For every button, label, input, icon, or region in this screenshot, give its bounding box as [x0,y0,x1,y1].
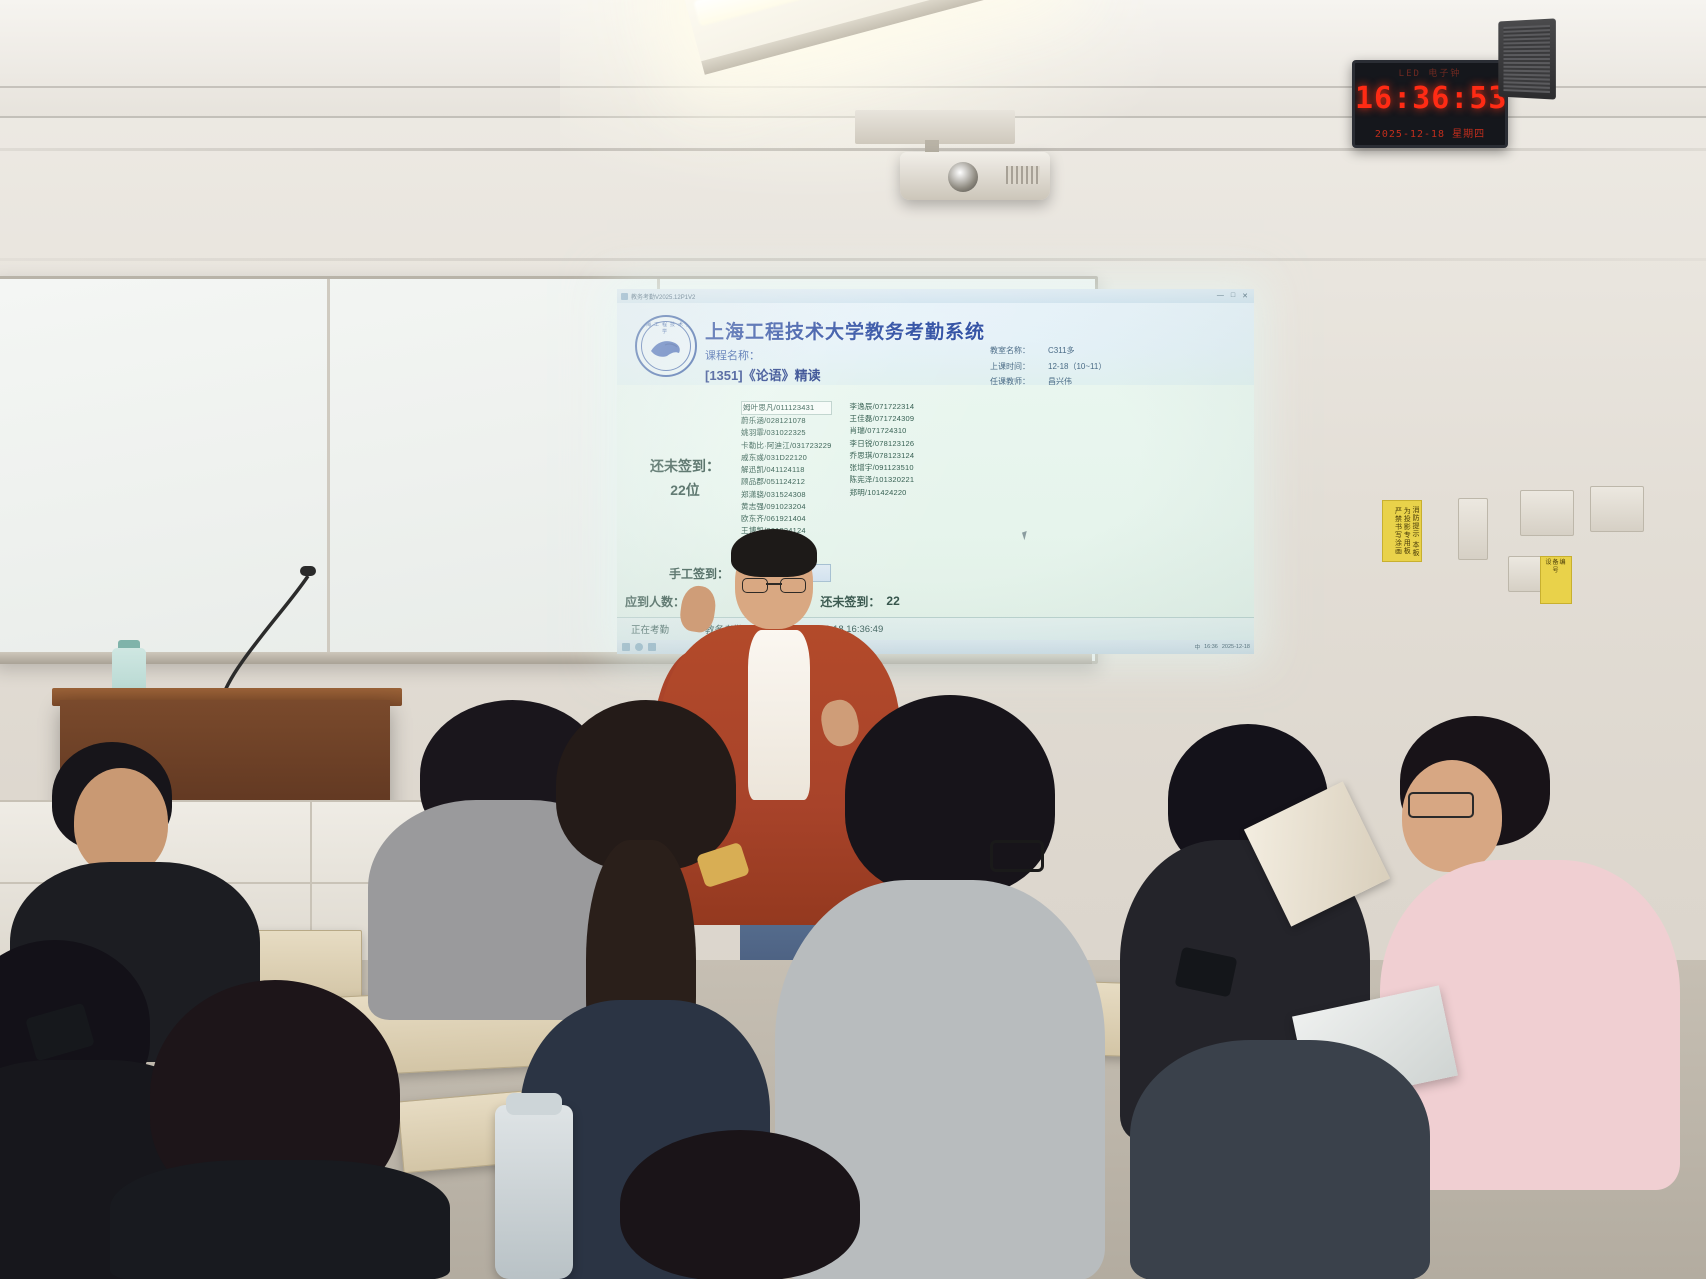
list-item[interactable]: 欧东齐/061921404 [741,513,832,525]
list-item[interactable]: 姚羽霏/031022325 [741,427,832,439]
wall-seam-upper [0,148,1706,151]
status-state: 正在考勤 [631,622,669,636]
classroom-scene: LED 电子钟 16:36:53 2025-12-18 星期四 消防提示 本板为… [0,0,1706,1279]
app-title: 上海工程技术大学教务考勤系统 [705,317,985,344]
meta-row-class-time: 上课时间： 12-18（10~11） [990,359,1240,375]
ceiling-projector [900,152,1050,200]
projector-mount-plate [855,110,1015,144]
led-clock-date: 2025-12-18 星期四 [1355,125,1505,141]
list-item[interactable]: 戚东彧/031D22120 [741,452,832,464]
teacher-shirt [748,630,810,800]
list-item[interactable]: 李逸辰/071722314 [850,401,915,413]
pending-student-list[interactable]: 姆叶思凡/011123431 蔚乐涵/028121078 姚羽霏/0310223… [741,401,1244,549]
taskbar-app-icon[interactable] [648,643,656,651]
window-controls[interactable]: — □ ✕ [1217,292,1254,300]
close-button[interactable]: ✕ [1242,292,1248,300]
wall-socket-box-1 [1520,490,1574,536]
student-hair [620,1130,860,1279]
maximize-button[interactable]: □ [1231,292,1235,300]
wall-seam-lower [0,258,1706,261]
projector-vent [1006,166,1040,184]
student-glasses [1408,792,1474,818]
course-name-value: [1351]《论语》精读 [705,365,821,384]
window-caption: 教务考勤V2025.12P1V2 [631,292,695,301]
wall-speaker [1498,18,1556,99]
teacher-glasses [742,578,806,592]
wall-warning-sign-1: 消防提示 本板为投影专用板 严禁书写涂画 [1382,500,1422,562]
student-head [74,768,168,876]
list-item[interactable]: 李日锐/078123126 [850,438,915,450]
attendance-counts-row: 应到人数： 55 还未签到： 22 [625,590,1254,612]
crest-text: 上海工程技术大学 [637,321,695,335]
search-icon[interactable] [635,643,643,651]
speaker-grill [1504,25,1550,93]
tray-language-indicator[interactable]: 中 [1195,643,1201,651]
pending-count-text: 22位 [635,479,735,503]
pending-label-text: 还未签到： [635,455,735,479]
list-item[interactable]: 黄志强/091023204 [741,501,832,513]
student-body [110,1160,450,1279]
system-tray[interactable]: 中 16:36 2025-12-18 [1195,643,1250,651]
list-item[interactable]: 陈宪泽/101320221 [850,474,915,486]
expected-count-label: 应到人数： [625,593,685,610]
wall-panel-strip [1458,498,1488,560]
tray-clock-date: 2025-12-18 [1222,644,1250,650]
university-crest-logo: 上海工程技术大学 [635,315,697,377]
list-item[interactable]: 郑潇骁/031524308 [741,489,832,501]
minimize-button[interactable]: — [1217,292,1224,300]
list-item[interactable]: 解迅凯/041124118 [741,464,832,476]
list-item[interactable]: 卡勒比·阿迪江/031723229 [741,440,832,452]
glasses-bridge [766,583,782,585]
list-item[interactable]: 蔚乐涵/028121078 [741,415,832,427]
wall-socket-box-2 [1590,486,1644,532]
not-signed-label: 还未签到： [820,593,880,610]
water-bottle-cap [506,1093,562,1115]
pending-column-right: 李逸辰/071722314 王佳磊/071724309 肖瑞/071724310… [850,401,915,549]
course-name-label: 课程名称： [705,347,760,363]
attendance-body: 还未签到： 22位 姆叶思凡/011123431 蔚乐涵/028121078 姚… [617,385,1254,618]
list-item[interactable]: 王佳磊/071724309 [850,413,915,425]
crest-bird-icon [649,337,683,359]
classroom-label: 教室名称： [990,343,1048,359]
classroom-value: C311多 [1048,343,1240,359]
wall-warning-sign-2: 设备编号 [1540,556,1572,604]
meta-row-classroom: 教室名称： C311多 [990,343,1240,359]
teacher-hair [731,529,817,577]
student-glasses [990,840,1044,872]
pending-column-left: 姆叶思凡/011123431 蔚乐涵/028121078 姚羽霏/0310223… [741,401,832,549]
list-item[interactable]: 郑明/101424220 [850,487,915,499]
app-icon [621,293,628,300]
list-item[interactable]: 肖瑞/071724310 [850,425,915,437]
water-bottle [495,1105,573,1279]
pending-summary: 还未签到： 22位 [635,455,735,503]
podium-microphone [180,566,330,706]
led-wall-clock: LED 电子钟 16:36:53 2025-12-18 星期四 [1352,60,1508,148]
class-time-label: 上课时间： [990,359,1048,375]
tray-clock-time: 16:36 [1204,644,1218,650]
not-signed-value: 22 [886,594,899,608]
student-body [1130,1040,1430,1279]
list-item[interactable]: 乔思琪/078123124 [850,450,915,462]
manual-checkin-label: 手工签到： [669,565,729,582]
windows-start-icon[interactable] [622,643,630,651]
window-titlebar: 教务考勤V2025.12P1V2 — □ ✕ [617,289,1254,304]
list-item[interactable]: 张增宇/091123510 [850,462,915,474]
list-item[interactable]: 姆叶思凡/011123431 [741,401,832,415]
app-header: 上海工程技术大学 上海工程技术大学教务考勤系统 课程名称： [1351]《论语》… [617,303,1254,385]
class-time-value: 12-18（10~11） [1048,359,1240,375]
led-clock-time: 16:36:53 [1355,79,1505,119]
projector-lens [948,162,978,192]
class-meta-panel: 教室名称： C311多 上课时间： 12-18（10~11） 任课教师： 昌兴伟 [990,343,1240,390]
list-item[interactable]: 顾品郡/051124212 [741,476,832,488]
